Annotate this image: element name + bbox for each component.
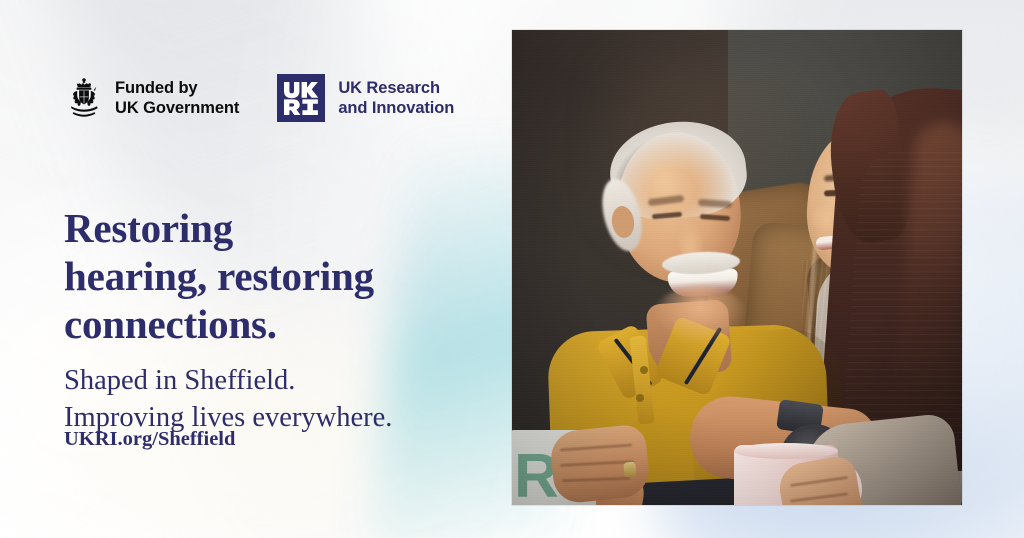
royal-coat-of-arms-icon — [64, 77, 104, 119]
man-shirt-button-top — [640, 366, 648, 374]
logo-lockup: Funded by UK Government — [64, 74, 454, 122]
funded-by-uk-government-label: Funded by UK Government — [115, 78, 239, 118]
woman-hair-strands — [842, 145, 962, 455]
man-shirt-button-bottom — [636, 394, 644, 402]
woman-nose — [810, 202, 836, 232]
funded-by-uk-government-logo: Funded by UK Government — [64, 77, 239, 119]
subheadline: Shaped in Sheffield. Improving lives eve… — [64, 362, 494, 438]
ukri-logo[interactable]: UK Research and Innovation — [277, 74, 454, 122]
campaign-photo: R — [512, 30, 962, 505]
ukri-square-logo-icon — [277, 74, 325, 122]
campaign-url[interactable]: UKRI.org/Sheffield — [64, 427, 235, 452]
man-chin — [654, 286, 746, 344]
headline: Restoring hearing, restoring connections… — [64, 205, 484, 348]
ukri-logo-label: UK Research and Innovation — [338, 78, 454, 118]
ukri-sheffield-campaign-banner: Funded by UK Government — [0, 0, 1024, 538]
pink-mug-rim — [734, 443, 838, 459]
man-ring — [623, 461, 637, 477]
